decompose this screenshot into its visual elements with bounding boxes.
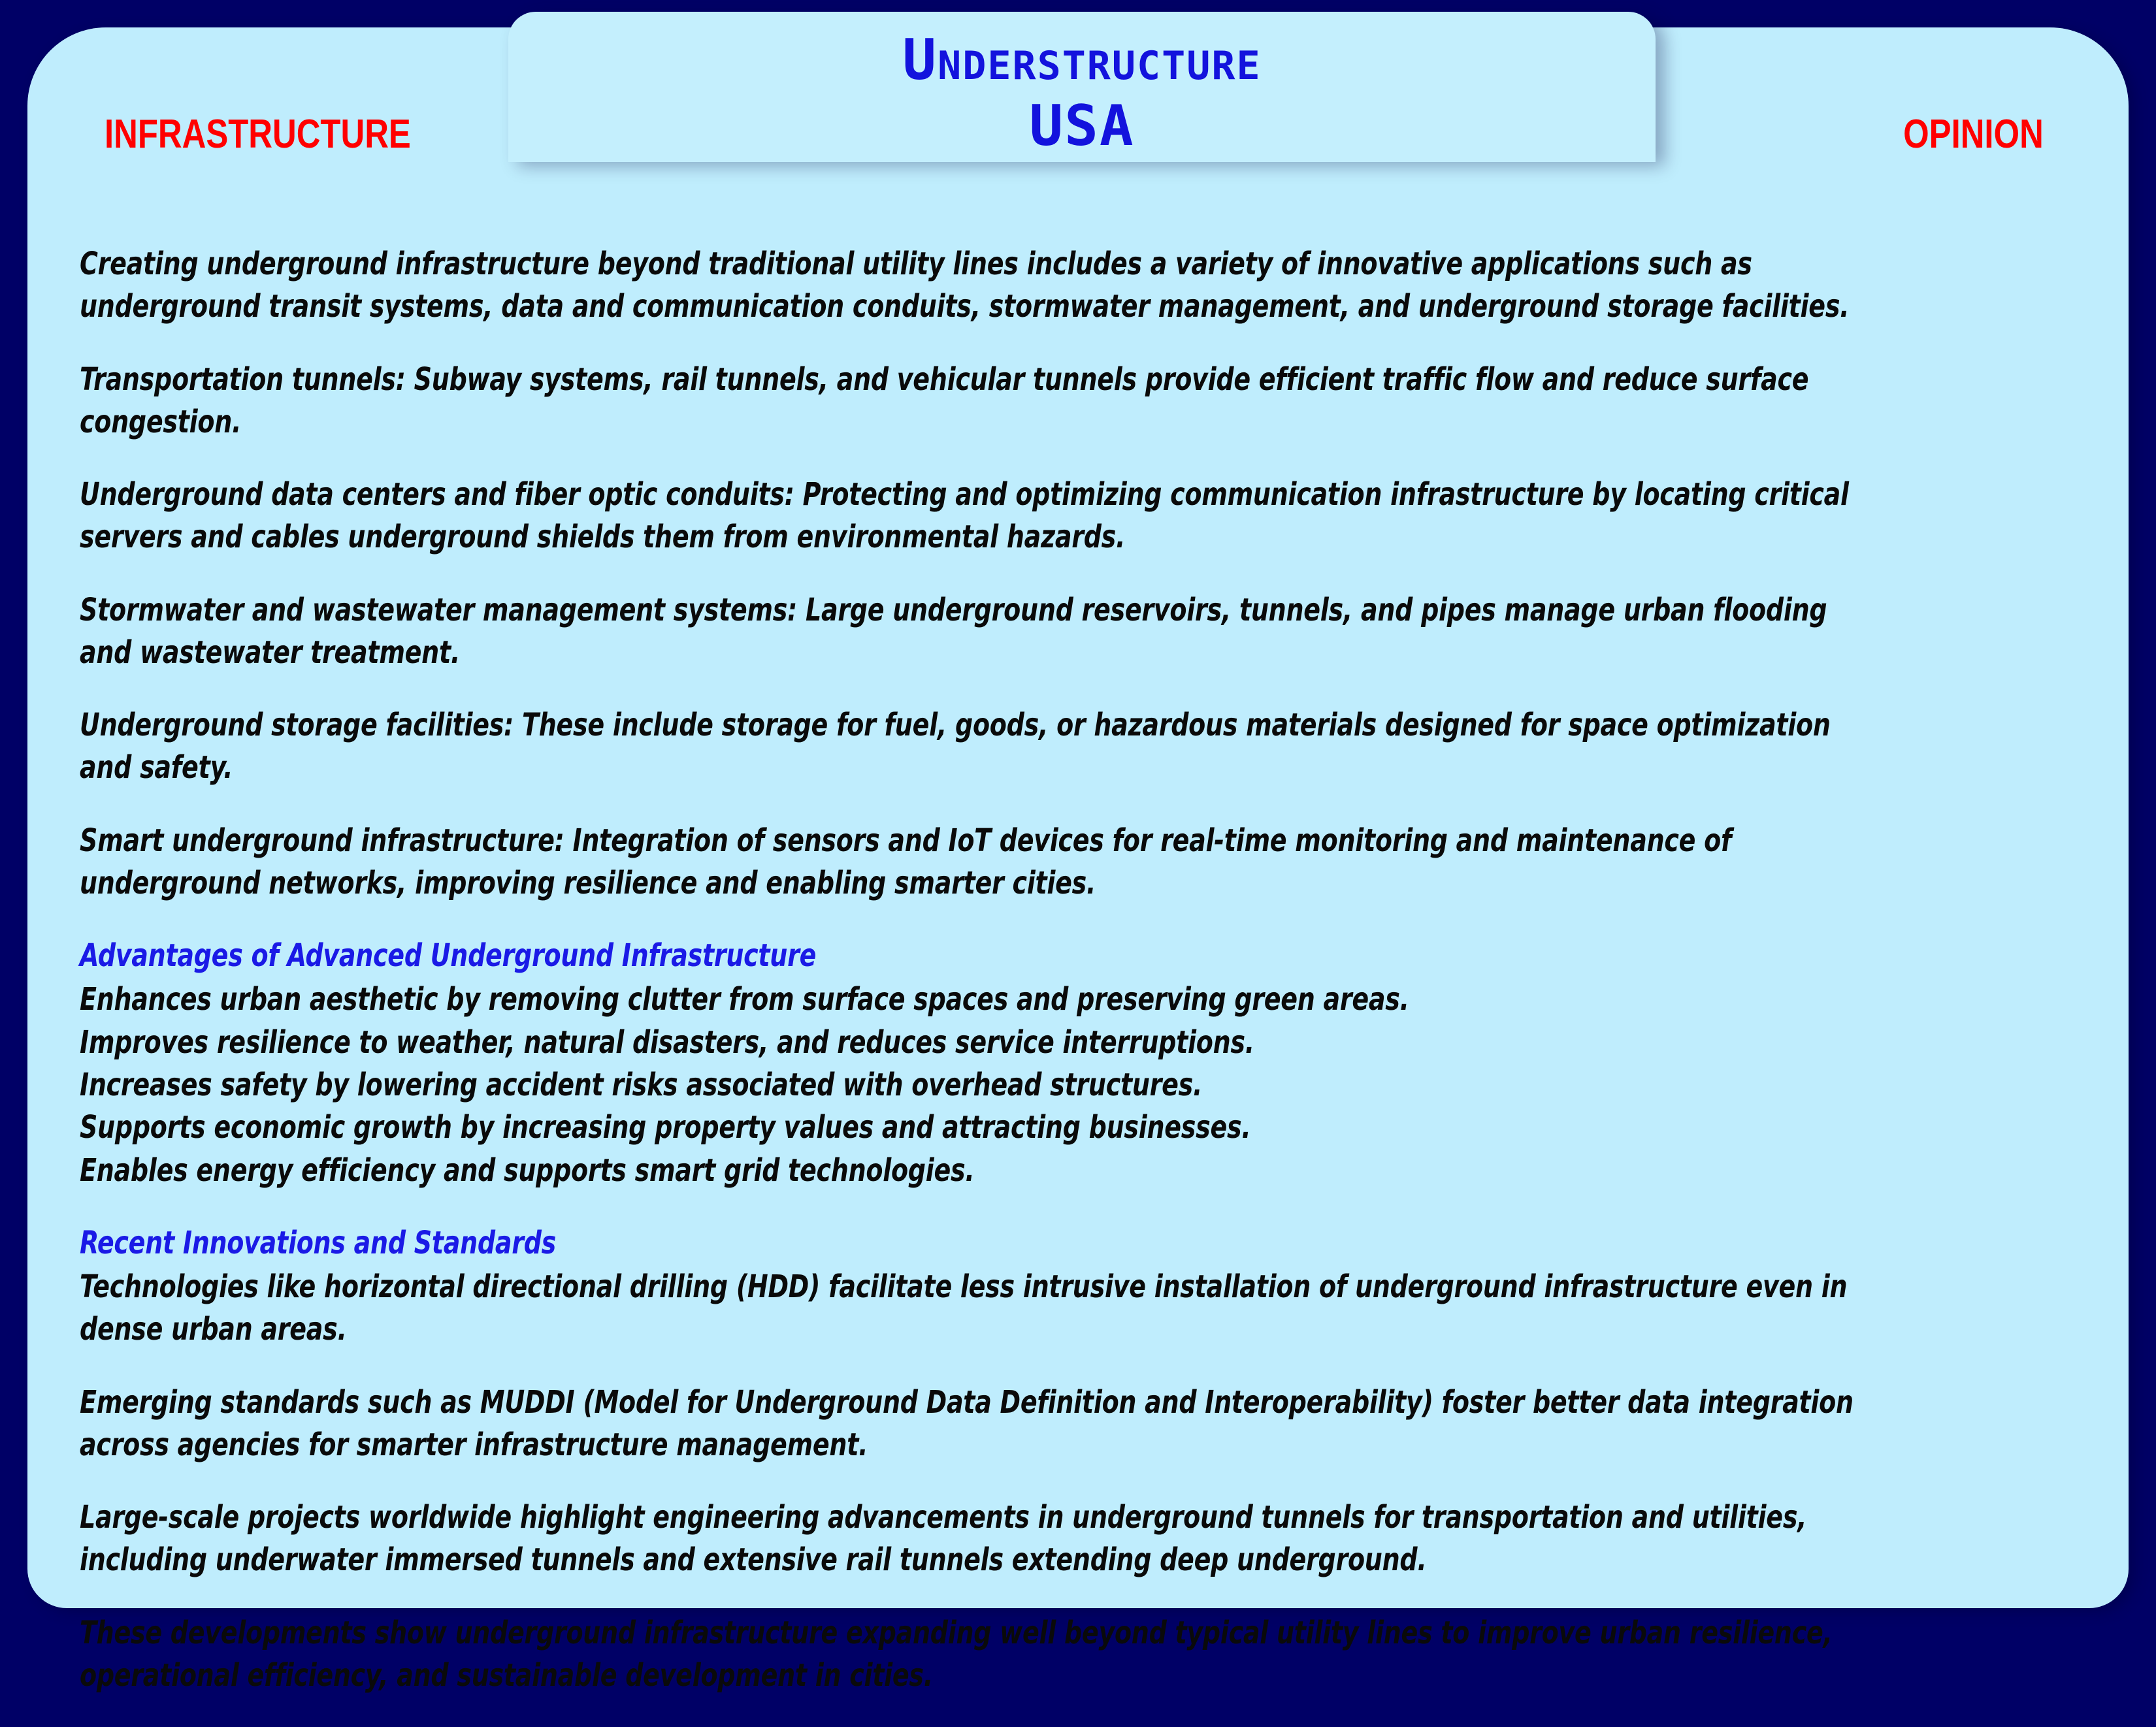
paragraph-projects: Large-scale projects worldwide highlight… xyxy=(80,1496,1856,1582)
article-body: Creating underground infrastructure beyo… xyxy=(80,243,1856,1727)
paragraph-muddi: Emerging standards such as MUDDI (Model … xyxy=(80,1381,1856,1467)
paragraph-stormwater: Stormwater and wastewater management sys… xyxy=(80,589,1856,675)
advantages-item: Increases safety by lowering accident ri… xyxy=(80,1064,1856,1106)
innovations-heading: Recent Innovations and Standards xyxy=(80,1222,1856,1265)
paragraph-summary: These developments show underground infr… xyxy=(80,1612,1856,1698)
advantages-section: Advantages of Advanced Underground Infra… xyxy=(80,935,1856,1192)
outer-frame: INFRASTRUCTURE OPINION Creating undergro… xyxy=(0,0,2156,1666)
paragraph-intro: Creating underground infrastructure beyo… xyxy=(80,243,1856,329)
advantages-item: Supports economic growth by increasing p… xyxy=(80,1106,1856,1149)
paragraph-hdd: Technologies like horizontal directional… xyxy=(80,1266,1856,1351)
paragraph-data-center: Underground data centers and fiber optic… xyxy=(80,474,1856,559)
advantages-heading: Advantages of Advanced Underground Infra… xyxy=(80,935,1856,977)
article-panel: INFRASTRUCTURE OPINION Creating undergro… xyxy=(27,27,2129,1608)
advantages-item: Enables energy efficiency and supports s… xyxy=(80,1150,1856,1192)
page-title: Understructure USA xyxy=(508,27,1656,160)
section-label-opinion[interactable]: OPINION xyxy=(1903,111,2044,157)
advantages-item: Improves resilience to weather, natural … xyxy=(80,1022,1856,1064)
paragraph-transport: Transportation tunnels: Subway systems, … xyxy=(80,359,1856,444)
masthead-tab: Understructure USA xyxy=(508,12,1656,162)
paragraph-smart: Smart underground infrastructure: Integr… xyxy=(80,820,1856,905)
section-label-infrastructure[interactable]: INFRASTRUCTURE xyxy=(105,111,411,157)
advantages-item: Enhances urban aesthetic by removing clu… xyxy=(80,978,1856,1021)
innovations-section: Recent Innovations and Standards Technol… xyxy=(80,1222,1856,1697)
paragraph-storage: Underground storage facilities: These in… xyxy=(80,704,1856,790)
